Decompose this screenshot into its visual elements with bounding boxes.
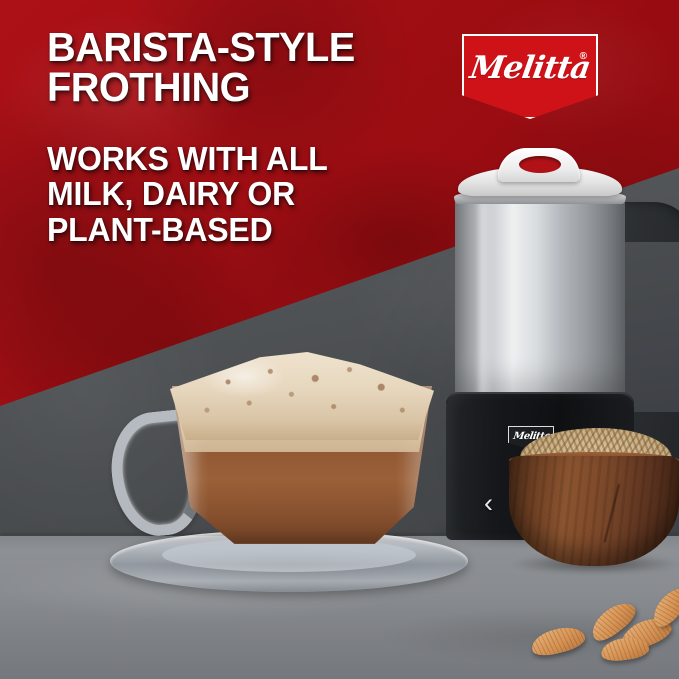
ad-copy-block: BARISTA-STYLE FROTHING WORKS WITH ALL MI… — [47, 28, 467, 247]
frother-knob-opening — [519, 156, 561, 173]
frother-steel-jug — [455, 198, 625, 398]
subheadline: WORKS WITH ALL MILK, DAIRY OR PLANT-BASE… — [47, 108, 454, 248]
frother-control-chevron-icon[interactable]: ‹ — [484, 490, 506, 516]
cocoa-dusting — [170, 352, 434, 440]
wooden-bowl-with-oats — [506, 428, 679, 568]
cappuccino-cup-and-saucer — [110, 352, 470, 602]
headline: BARISTA-STYLE FROTHING — [47, 28, 454, 108]
melitta-logo: Melitta ® — [462, 34, 598, 119]
registered-trademark-icon: ® — [580, 51, 587, 62]
product-advertisement: Melitta ‹ BARISTA-STYLE FROTHING WORKS W… — [0, 0, 679, 679]
